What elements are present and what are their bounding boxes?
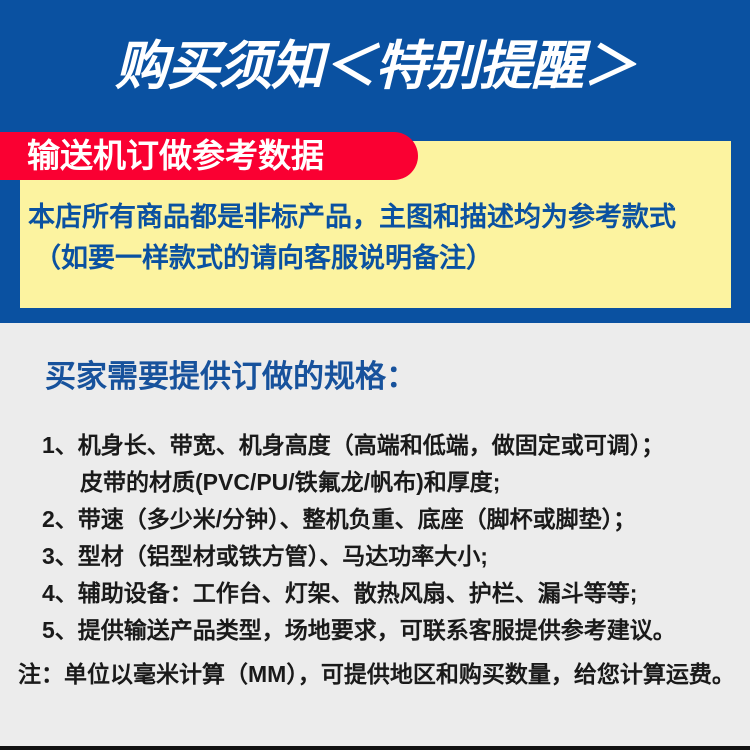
notice-text-block: 本店所有商品都是非标产品，主图和描述均为参考款式 （如要一样款式的请向客服说明备… bbox=[20, 197, 731, 279]
list-item-subline: 皮带的材质(PVC/PU/铁氟龙/帆布)和厚度; bbox=[42, 464, 722, 501]
list-item: 1、机身长、带宽、机身高度（高端和低端，做固定或可调）； bbox=[42, 427, 722, 464]
promo-page: 购买须知＜特别提醒＞ 本店所有商品都是非标产品，主图和描述均为参考款式 （如要一… bbox=[0, 0, 750, 750]
bottom-divider bbox=[0, 746, 750, 750]
notice-line-secondary: （如要一样款式的请向客服说明备注） bbox=[20, 238, 731, 279]
list-item: 3、型材（铝型材或铁方管）、马达功率大小; bbox=[42, 538, 722, 575]
specs-section: 买家需要提供订做的规格： 1、机身长、带宽、机身高度（高端和低端，做固定或可调）… bbox=[0, 323, 750, 746]
specs-list: 1、机身长、带宽、机身高度（高端和低端，做固定或可调）； 皮带的材质(PVC/P… bbox=[42, 427, 722, 649]
specs-heading: 买家需要提供订做的规格： bbox=[45, 357, 417, 397]
footer-note: 注：单位以毫米计算（MM），可提供地区和购买数量，给您计算运费。 bbox=[18, 657, 738, 691]
notice-line-primary: 本店所有商品都是非标产品，主图和描述均为参考款式 bbox=[20, 197, 731, 238]
highlight-badge: 输送机订做参考数据 bbox=[0, 132, 418, 180]
highlight-badge-label: 输送机订做参考数据 bbox=[27, 136, 324, 176]
list-item: 2、带速（多少米/分钟）、整机负重、底座（脚杯或脚垫）； bbox=[42, 501, 722, 538]
list-item: 4、辅助设备：工作台、灯架、散热风扇、护栏、漏斗等等; bbox=[42, 575, 722, 612]
page-title: 购买须知＜特别提醒＞ bbox=[0, 36, 750, 98]
list-item: 5、提供输送产品类型，场地要求，可联系客服提供参考建议。 bbox=[42, 612, 722, 649]
